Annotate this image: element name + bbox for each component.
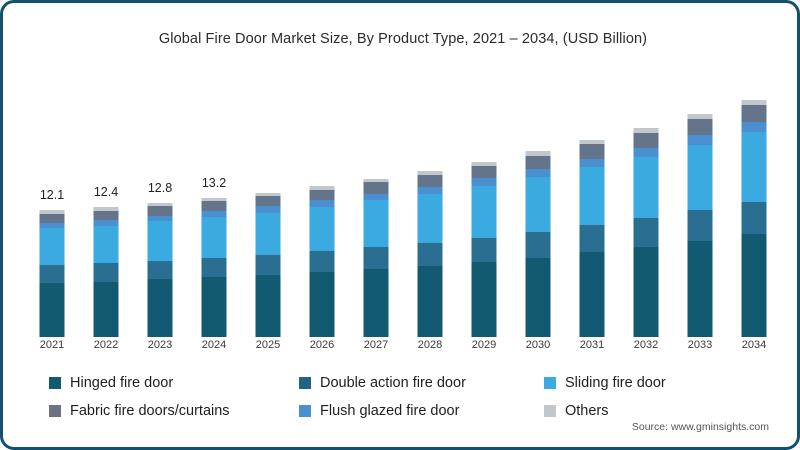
- bar-segment: [688, 145, 713, 211]
- bar-column[interactable]: [295, 65, 349, 337]
- x-axis-tick: 2033: [673, 339, 727, 351]
- legend-label-sliding-fire-door: Sliding fire door: [565, 375, 666, 391]
- bar-segment: [580, 167, 605, 225]
- x-axis-tick: 2026: [295, 339, 349, 351]
- source-attribution: Source: www.gminsights.com: [632, 421, 769, 433]
- bar-segment: [688, 210, 713, 240]
- x-axis-tick: 2023: [133, 339, 187, 351]
- bar-segment: [526, 177, 551, 232]
- bar-column[interactable]: [565, 65, 619, 337]
- chart-legend: Hinged fire door Double action fire door…: [49, 369, 759, 425]
- bar-segment: [472, 178, 497, 185]
- bar-segment: [364, 269, 389, 337]
- legend-swatch-sliding-fire-door: [544, 377, 556, 389]
- x-axis-tick: 2034: [727, 339, 781, 351]
- bar-stack: [634, 128, 659, 337]
- bar-segment: [742, 132, 767, 202]
- bar-segment: [94, 282, 119, 337]
- bar-column[interactable]: [511, 65, 565, 337]
- bar-segment: [634, 247, 659, 337]
- bar-column[interactable]: [619, 65, 673, 337]
- bar-segment: [742, 122, 767, 132]
- bar-segment: [364, 200, 389, 247]
- bar-stack: [364, 179, 389, 337]
- bar-segment: [472, 238, 497, 262]
- bar-column[interactable]: [403, 65, 457, 337]
- bar-segment: [256, 275, 281, 337]
- bar-segment: [40, 228, 65, 265]
- bar-segment: [418, 194, 443, 243]
- bar-segment: [148, 206, 173, 216]
- bar-segment: [364, 247, 389, 269]
- bar-segment: [94, 211, 119, 220]
- plot-area: 12.112.412.813.2: [25, 65, 781, 337]
- x-axis-tick: 2029: [457, 339, 511, 351]
- legend-swatch-hinged-fire-door: [49, 377, 61, 389]
- bar-segment: [418, 266, 443, 337]
- bar-segment: [526, 169, 551, 177]
- bar-column[interactable]: 12.4: [79, 65, 133, 337]
- bar-segment: [202, 201, 227, 211]
- legend-label-others: Others: [565, 403, 609, 419]
- chart-card: Global Fire Door Market Size, By Product…: [0, 0, 800, 450]
- legend-item-sliding-fire-door[interactable]: Sliding fire door: [544, 375, 754, 391]
- bar-segment: [526, 232, 551, 258]
- x-axis-tick: 2032: [619, 339, 673, 351]
- bar-segment: [310, 190, 335, 201]
- bar-segment: [310, 251, 335, 272]
- bar-segment: [580, 225, 605, 252]
- bar-segment: [418, 187, 443, 194]
- bar-segment: [634, 218, 659, 247]
- x-axis-tick: 2028: [403, 339, 457, 351]
- bar-column[interactable]: 12.8: [133, 65, 187, 337]
- bar-segment: [202, 217, 227, 258]
- bar-segment: [526, 258, 551, 338]
- legend-row-1: Hinged fire door Double action fire door…: [49, 369, 759, 397]
- bar-column[interactable]: [727, 65, 781, 337]
- legend-item-flush-glazed-fire-door[interactable]: Flush glazed fire door: [299, 403, 544, 419]
- legend-swatch-others: [544, 405, 556, 417]
- bar-segment: [688, 135, 713, 144]
- legend-swatch-flush-glazed-fire-door: [299, 405, 311, 417]
- legend-label-fabric-fire-doors-curtains: Fabric fire doors/curtains: [70, 403, 230, 419]
- x-axis: 2021202220232024202520262027202820292030…: [25, 339, 781, 359]
- legend-label-hinged-fire-door: Hinged fire door: [70, 375, 173, 391]
- bar-stack: [580, 140, 605, 337]
- bar-segment: [40, 214, 65, 223]
- x-axis-tick: 2030: [511, 339, 565, 351]
- bar-segment: [40, 265, 65, 283]
- bar-segment: [40, 283, 65, 337]
- bar-segment: [526, 156, 551, 169]
- bar-stack: [526, 151, 551, 337]
- legend-swatch-fabric-fire-doors-curtains: [49, 405, 61, 417]
- bar-stack: [256, 193, 281, 337]
- legend-item-hinged-fire-door[interactable]: Hinged fire door: [49, 375, 299, 391]
- bar-segment: [580, 144, 605, 158]
- bar-segment: [148, 279, 173, 337]
- bar-segment: [310, 272, 335, 337]
- bar-segment: [202, 258, 227, 277]
- bar-segment: [256, 196, 281, 206]
- bar-segment: [364, 194, 389, 201]
- bar-segment: [310, 207, 335, 251]
- bar-value-label: 12.1: [40, 188, 64, 202]
- bar-column[interactable]: [673, 65, 727, 337]
- bar-segment: [634, 133, 659, 148]
- bar-stack: [94, 207, 119, 337]
- bar-segment: [634, 157, 659, 219]
- legend-swatch-double-action-fire-door: [299, 377, 311, 389]
- bar-stack: [148, 203, 173, 337]
- bar-segment: [148, 261, 173, 280]
- bar-value-label: 13.2: [202, 176, 226, 190]
- bar-value-label: 12.8: [148, 181, 172, 195]
- x-axis-tick: 2031: [565, 339, 619, 351]
- bar-segment: [742, 202, 767, 234]
- bar-segment: [580, 159, 605, 167]
- legend-item-others[interactable]: Others: [544, 403, 754, 419]
- bar-column[interactable]: [349, 65, 403, 337]
- bar-segment: [742, 234, 767, 337]
- bar-column[interactable]: [241, 65, 295, 337]
- legend-item-fabric-fire-doors-curtains[interactable]: Fabric fire doors/curtains: [49, 403, 299, 419]
- bar-stack: [202, 198, 227, 337]
- x-axis-tick: 2027: [349, 339, 403, 351]
- bar-segment: [688, 241, 713, 337]
- bar-stack: [310, 186, 335, 337]
- bar-segment: [688, 119, 713, 135]
- legend-label-flush-glazed-fire-door: Flush glazed fire door: [320, 403, 459, 419]
- legend-label-double-action-fire-door: Double action fire door: [320, 375, 466, 391]
- x-axis-tick: 2022: [79, 339, 133, 351]
- bar-stack: [472, 162, 497, 337]
- bar-segment: [256, 213, 281, 255]
- x-axis-tick: 2024: [187, 339, 241, 351]
- bar-segment: [202, 277, 227, 337]
- chart-title: Global Fire Door Market Size, By Product…: [3, 31, 800, 47]
- legend-item-double-action-fire-door[interactable]: Double action fire door: [299, 375, 544, 391]
- x-axis-tick: 2021: [25, 339, 79, 351]
- x-axis-tick: 2025: [241, 339, 295, 351]
- bar-column[interactable]: 12.1: [25, 65, 79, 337]
- bar-segment: [472, 166, 497, 179]
- bar-stack: [742, 100, 767, 337]
- bar-segment: [472, 186, 497, 238]
- bar-stack: [688, 114, 713, 337]
- bar-value-label: 12.4: [94, 185, 118, 199]
- bar-segment: [580, 252, 605, 337]
- bar-segment: [742, 105, 767, 122]
- bar-segment: [364, 182, 389, 193]
- bar-segment: [148, 221, 173, 260]
- bar-column[interactable]: [457, 65, 511, 337]
- bar-column[interactable]: 13.2: [187, 65, 241, 337]
- bar-stack: [418, 171, 443, 337]
- bar-segment: [94, 263, 119, 281]
- bar-stack: [40, 210, 65, 337]
- bar-segment: [634, 148, 659, 157]
- bar-segment: [472, 262, 497, 337]
- bar-segment: [418, 175, 443, 187]
- bar-segment: [256, 255, 281, 275]
- bar-segment: [418, 243, 443, 266]
- bar-segment: [94, 226, 119, 264]
